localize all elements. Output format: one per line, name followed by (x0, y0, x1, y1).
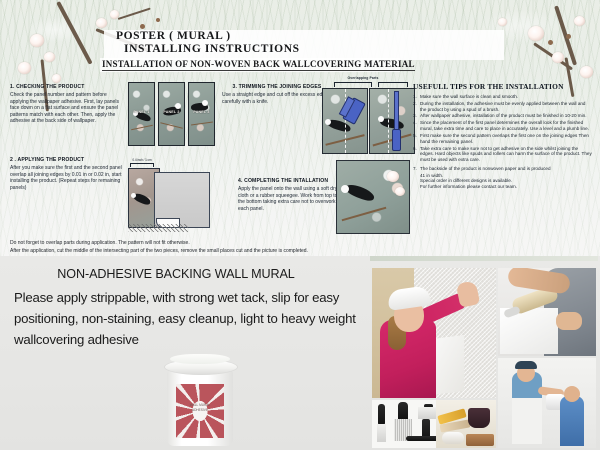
figure-applying-panel: 0.4 inch / 1 cm (128, 158, 210, 232)
step-3-heading: 3. TRIMMING THE JOINING EDGES (222, 84, 332, 90)
tip-number: 6. (413, 146, 420, 163)
poster-page: POSTER ( MURAL ) INSTALLING INSTRUCTIONS… (0, 0, 600, 450)
tips-heading: USEFULL TIPS FOR THE INSTALLATION (413, 82, 593, 91)
step-2-block: 2 . APPLYING THE PRODUCT After you make … (10, 157, 122, 191)
tip-text: The backside of the product is nonwoven … (420, 166, 593, 172)
adhesive-bucket-image: WALL MURAL ADHESIVE (162, 351, 238, 447)
tip-text: Since the placement of the first panel d… (420, 120, 593, 131)
photo-roller-applying-paste (498, 268, 596, 356)
tip-number: 3. (413, 113, 420, 119)
tip-number: 4. (413, 120, 420, 131)
overlap-panel-left (322, 88, 368, 154)
tip-item: 1. Make sure the wall surface is clean a… (413, 94, 593, 100)
overlap-bracket-left (334, 82, 372, 87)
overlapping-parts-label: Overlapping Parts (328, 76, 398, 80)
panel-3-label: PANEL 3 (189, 110, 214, 114)
tip-text: During the installation, the adhesive mu… (420, 101, 593, 112)
figure-overlapping-parts: Overlapping Parts (322, 76, 414, 156)
tip-number: 1. (413, 94, 420, 100)
measurement-label: 0.4 inch / 1 cm (129, 158, 155, 162)
overlap-bracket-right (378, 82, 408, 87)
step-3-block: 3. TRIMMING THE JOINING EDGES Use a stra… (222, 84, 332, 105)
tip-text: Make sure the wall surface is clean and … (420, 94, 593, 100)
page-subtitle: INSTALLATION OF NON-WOVEN BACK WALLCOVER… (102, 59, 415, 71)
tip-item: 7. The backside of the product is nonwov… (413, 166, 593, 172)
photo-rolls-and-tray (436, 400, 496, 448)
mural-panel-2: PANEL 2 (158, 82, 185, 146)
photo-collage (370, 260, 598, 450)
overlap-panel-right (369, 88, 415, 154)
step-3-body: Use a straight edge and cut off the exce… (222, 92, 332, 105)
figure-completing-installation (336, 160, 414, 234)
panel-1-label: PANEL 1 (129, 110, 154, 114)
mural-panel-1: PANEL 1 (128, 82, 155, 146)
tip-text: After wallpaper adhesive, installation o… (420, 113, 593, 119)
tip-item: 3. After wallpaper adhesive, installatio… (413, 113, 593, 119)
promo-title: NON-ADHESIVE BACKING WALL MURAL (0, 267, 352, 281)
measurement-bracket (130, 163, 154, 167)
tips-block: USEFULL TIPS FOR THE INSTALLATION 1. Mak… (413, 82, 593, 190)
step-2-heading: 2 . APPLYING THE PRODUCT (10, 157, 122, 163)
tip-text: First make sure the second pattern overl… (420, 133, 593, 144)
page-title-line1: POSTER ( MURAL ) (116, 30, 231, 42)
step-4-heading: 4. COMPLETING THE INTALLATION (238, 178, 338, 184)
bucket-lid-top (170, 354, 230, 364)
tip-number: 5. (413, 133, 420, 144)
tip-item: 4. Since the placement of the first pane… (413, 120, 593, 131)
tip-item: 6. Take extra care to make sure not to g… (413, 146, 593, 163)
promo-body: Please apply strippable, with strong wet… (14, 287, 362, 350)
tip-item: 2. During the installation, the adhesive… (413, 101, 593, 112)
finished-panel-graphic (336, 160, 410, 234)
step-1-heading: 1. CHECKING THE PRODUCT (10, 84, 122, 90)
tip-text: Take extra care to make sure not to get … (420, 146, 593, 163)
step-4-block: 4. COMPLETING THE INTALLATION Apply the … (238, 178, 338, 212)
tip-number: 7. (413, 166, 420, 172)
note-line: After the application, cut the middle of… (10, 247, 595, 255)
photo-man-and-child-hanging-paper (498, 358, 596, 448)
mural-panel-3: PANEL 3 (188, 82, 215, 146)
photo-woman-applying-wallpaper (372, 268, 496, 398)
notes-block: Do not forget to overlap parts during ap… (10, 239, 595, 256)
step-1-block: 1. CHECKING THE PRODUCT Check the panel … (10, 84, 122, 125)
panel-2-label: PANEL 2 (159, 110, 184, 114)
page-title-line2: INSTALLING INSTRUCTIONS (124, 43, 300, 55)
step-4-body: Apply the panel onto the wall using a so… (238, 186, 338, 212)
figure-three-panels: PANEL 1 PANEL 2 PANEL 3 (128, 82, 215, 146)
note-line: Do not forget to overlap parts during ap… (10, 239, 595, 247)
tip-item: 5. First make sure the second pattern ov… (413, 133, 593, 144)
step-2-body: After you make sure the first and the se… (10, 165, 122, 191)
bucket-label-text: WALL MURAL ADHESIVE (182, 403, 218, 412)
floor-hatch-graphic (128, 224, 188, 232)
tip-subline: For further information please contact o… (420, 184, 593, 190)
tip-number: 2. (413, 101, 420, 112)
step-1-body: Check the panel number and pattern befor… (10, 92, 122, 125)
